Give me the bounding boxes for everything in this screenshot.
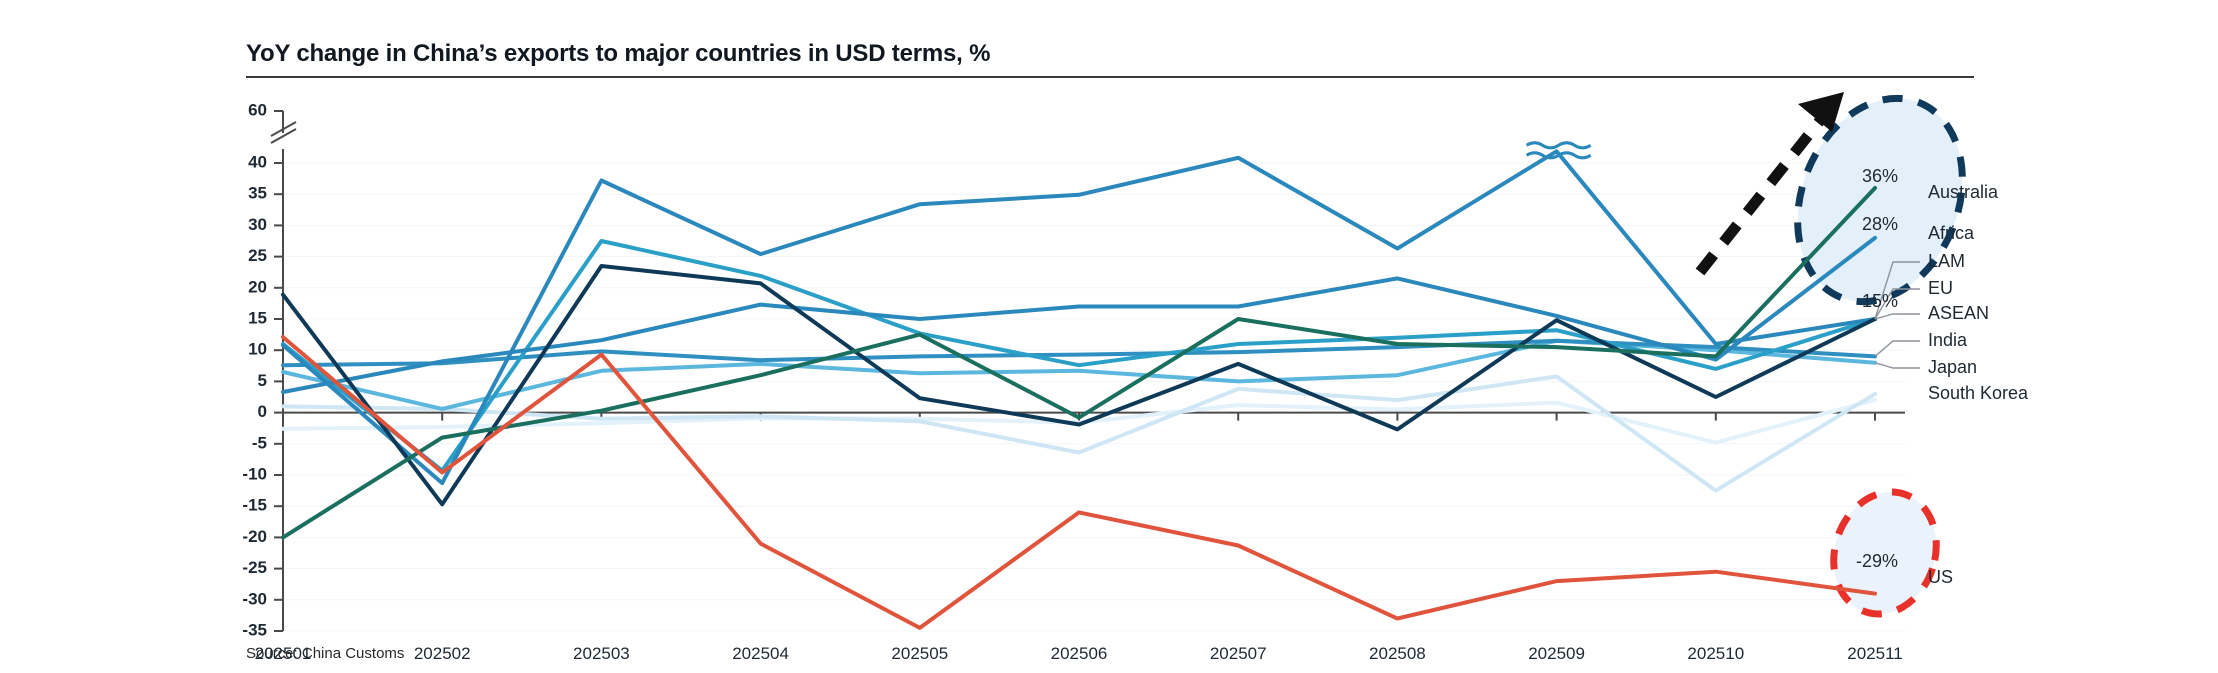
y-tick-label: 5 [258,371,267,390]
y-tick-label: 20 [248,277,267,296]
y-tick-label: -10 [242,464,267,483]
series-lines [283,151,1875,628]
legend-label-asean[interactable]: ASEAN [1928,303,1989,323]
x-tick-label: 202507 [1210,644,1267,663]
legend-leader-line [1875,341,1920,356]
series-line [283,266,1875,504]
x-tick-label: 202501 [255,644,312,663]
y-tick-label: 30 [248,215,267,234]
legend-label-eu[interactable]: EU [1928,278,1953,298]
y-tick-label: 35 [248,184,267,203]
legend-leader-line [1875,314,1920,319]
y-tick-labels: 604035302520151050-5-10-15-20-25-30-35 [242,100,267,639]
legend-label-japan[interactable]: Japan [1928,357,1977,377]
y-tick-label: 60 [248,100,267,119]
legend-label-australia[interactable]: Australia [1928,182,1999,202]
y-tick-label: -35 [242,620,267,639]
x-tick-label: 202502 [414,644,471,663]
end-value-label: -29% [1856,551,1898,571]
y-tick-label: 0 [258,402,267,421]
axis-break-marker [1527,143,1591,158]
legend-label-africa[interactable]: Africa [1928,223,1975,243]
y-tick-label: 15 [248,308,267,327]
legend-label-lam[interactable]: LAM [1928,251,1965,271]
y-tick-label: 25 [248,246,267,265]
x-tick-label: 202511 [1847,644,1902,663]
x-tick-labels: 2025012025022025032025042025052025062025… [255,644,1903,663]
x-tick-label: 202508 [1369,644,1426,663]
chart-page: YoY change in China’s exports to major c… [0,0,2218,673]
y-tick-label: -25 [242,558,267,577]
series-line [283,400,1875,443]
y-tick-label: 10 [248,340,267,359]
legend-label-south-korea[interactable]: South Korea [1928,383,2029,403]
x-tick-label: 202505 [891,644,948,663]
end-value-label: 15% [1862,291,1898,311]
x-tick-label: 202509 [1528,644,1585,663]
end-value-label: 36% [1862,166,1898,186]
series-legend: AustraliaAfricaLAMEUASEANIndiaJapanSouth… [1928,182,2029,587]
y-tick-label: -30 [242,589,267,608]
y-tick-label: -5 [252,433,267,452]
zero-line [274,413,1905,631]
series-line [283,188,1875,537]
x-tick-label: 202510 [1687,644,1744,663]
series-line [283,337,1875,628]
legend-label-us[interactable]: US [1928,567,1953,587]
legend-label-india[interactable]: India [1928,330,1968,350]
y-tick-label: 40 [248,152,267,171]
break-squiggle [1527,143,1591,148]
line-chart: 604035302520151050-5-10-15-20-25-30-35 2… [0,0,2218,673]
gridlines [283,163,1905,631]
end-value-label: 28% [1862,214,1898,234]
x-tick-label: 202504 [732,644,789,663]
series-line [283,376,1875,490]
x-tick-label: 202503 [573,644,630,663]
y-tick-label: -15 [242,496,267,515]
x-tick-label: 202506 [1051,644,1108,663]
legend-leader-line [1875,363,1920,368]
y-tick-label: -20 [242,527,267,546]
